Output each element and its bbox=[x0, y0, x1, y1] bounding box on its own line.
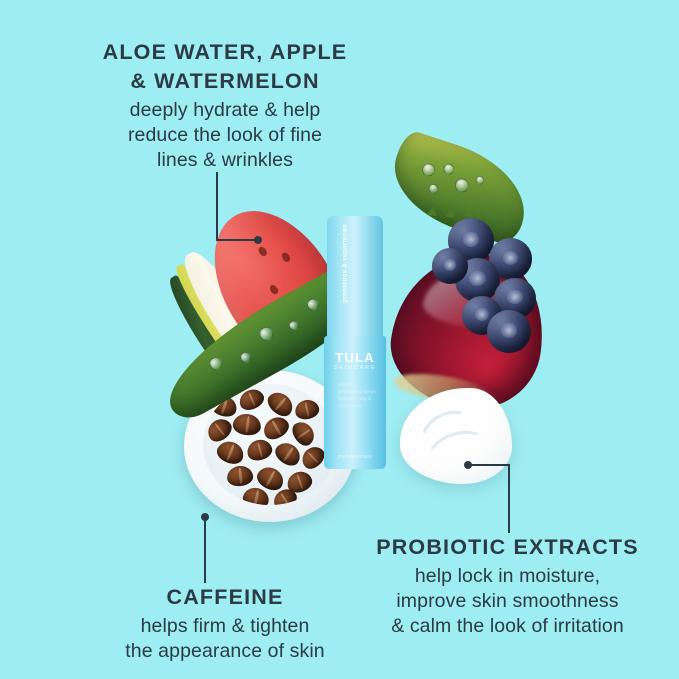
caption-headline-line1: ALOE WATER, APPLE bbox=[60, 40, 390, 66]
caption-body-line2: reduce the look of fine bbox=[60, 123, 390, 148]
caption-body-line1: deeply hydrate & help bbox=[60, 98, 390, 123]
leader-line-probiotic bbox=[463, 460, 523, 535]
caption-body-line2: the appearance of skin bbox=[75, 639, 375, 664]
caption-caffeine: CAFFEINE helps firm & tighten the appear… bbox=[75, 585, 375, 664]
caption-body-line1: help lock in moisture, bbox=[355, 564, 660, 589]
product-bottle[interactable]: TULA SKINCARE vitamin c brightening seru… bbox=[324, 216, 386, 469]
caption-headline-line2: & WATERMELON bbox=[60, 69, 390, 95]
leader-dot bbox=[464, 461, 472, 469]
ingredient-infographic: TULA SKINCARE vitamin c brightening seru… bbox=[0, 0, 679, 679]
bottle-volume-text: professionale bbox=[324, 454, 386, 460]
bottle-description-text: vitamin c brightening serum hydrating da… bbox=[338, 381, 380, 409]
leader-line-caffeine bbox=[195, 513, 215, 585]
brand-subtitle: SKINCARE bbox=[324, 365, 386, 371]
coffee-bean bbox=[293, 397, 320, 421]
caption-aloe-water-apple-watermelon: ALOE WATER, APPLE & WATERMELON deeply hy… bbox=[60, 40, 390, 172]
brand-name: TULA bbox=[324, 350, 386, 365]
leader-dot bbox=[201, 513, 209, 521]
coffee-bean bbox=[245, 437, 275, 463]
caption-body-line3: & calm the look of irritation bbox=[355, 614, 660, 639]
leader-line-aloe bbox=[215, 170, 265, 250]
leader-path bbox=[468, 465, 509, 533]
caption-body-line3: lines & wrinkles bbox=[60, 148, 390, 173]
aloe-tooth bbox=[445, 207, 457, 218]
blueberry bbox=[487, 310, 531, 353]
leader-dot bbox=[254, 236, 262, 244]
bottle-cap bbox=[327, 216, 383, 340]
blueberry bbox=[432, 248, 468, 284]
coffee-bean bbox=[288, 417, 318, 448]
coffee-bean bbox=[260, 413, 293, 443]
leader-path bbox=[217, 172, 257, 240]
caption-body-line1: helps firm & tighten bbox=[75, 614, 375, 639]
caption-headline-line1: PROBIOTIC EXTRACTS bbox=[355, 535, 660, 561]
caption-body-line2: improve skin smoothness bbox=[355, 589, 660, 614]
coffee-bean bbox=[226, 464, 254, 487]
caption-headline-line1: CAFFEINE bbox=[75, 585, 375, 611]
bottle-body: TULA SKINCARE vitamin c brightening seru… bbox=[324, 336, 386, 469]
coffee-bean bbox=[214, 437, 247, 467]
coffee-bean bbox=[264, 387, 298, 420]
coffee-bean bbox=[232, 412, 263, 437]
caption-probiotic-extracts: PROBIOTIC EXTRACTS help lock in moisture… bbox=[355, 535, 660, 639]
aloe-tooth bbox=[427, 206, 438, 216]
bottle-side-text: probiotics & superfoods bbox=[342, 216, 349, 312]
